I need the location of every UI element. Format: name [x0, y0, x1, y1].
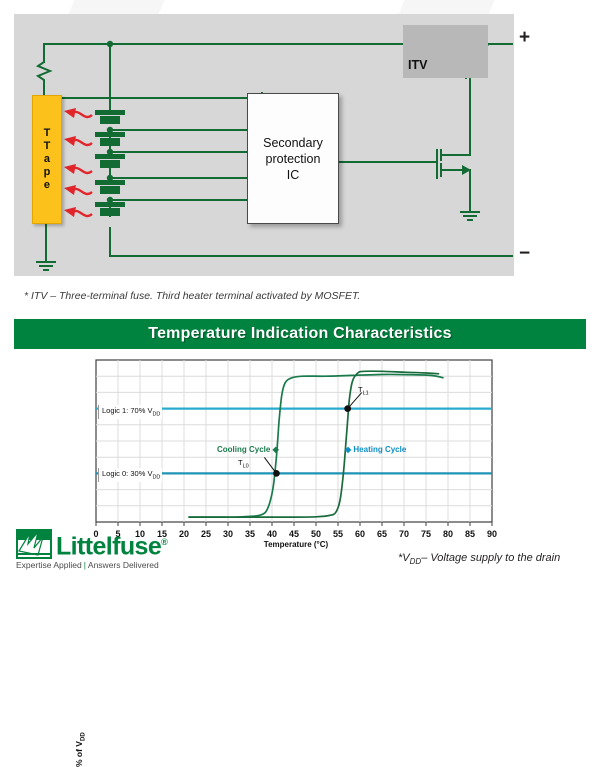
- ttape-component: T T a p e: [32, 95, 62, 224]
- littelfuse-wordmark-text: Littelfuse: [56, 532, 161, 560]
- ttape-letter-3: a: [44, 153, 51, 166]
- temperature-indication-chart: 051015202530354045505560657075808590 % o…: [0, 352, 600, 547]
- heat-arrow-heads: [64, 108, 76, 217]
- heating-cycle-dot: ◆: [345, 445, 351, 454]
- circuit-caption: * ITV – Three-terminal fuse. Third heate…: [24, 290, 584, 302]
- x-tick-label: 55: [333, 529, 343, 539]
- heat-flow-arrows: [72, 112, 92, 216]
- logic-0-sub: DD: [152, 475, 160, 481]
- heating-cycle-legend: ◆ Heating Cycle: [345, 445, 406, 454]
- tl0-annotation: TL0: [238, 458, 249, 470]
- ttape-letter-1: T: [44, 127, 51, 140]
- ic-label-line-2: protection: [266, 152, 321, 166]
- x-tick-label: 75: [421, 529, 431, 539]
- x-tick-label: 85: [465, 529, 475, 539]
- x-tick-label: 65: [377, 529, 387, 539]
- ic-label-line-3: IC: [287, 168, 300, 182]
- ttape-letter-2: T: [44, 140, 51, 153]
- logic-0-text: Logic 0: 30% V: [102, 469, 152, 478]
- y-axis-label-sub: DD: [81, 732, 87, 741]
- y-axis-label: % of VDD: [74, 707, 87, 767]
- littelfuse-tagline: Expertise Applied|Answers Delivered: [16, 560, 159, 570]
- itv-label: ITV: [408, 58, 427, 72]
- y-axis-label-text: % of V: [74, 741, 84, 767]
- ic-label-line-1: Secondary: [263, 136, 323, 150]
- logic-1-threshold-label: Logic 1: 70% VDD: [98, 405, 162, 419]
- tl1-sub: L1: [363, 391, 369, 397]
- tagline-left: Expertise Applied: [16, 560, 82, 570]
- x-tick-label: 45: [289, 529, 299, 539]
- positive-terminal-label: +: [519, 28, 530, 47]
- x-tick-label: 80: [443, 529, 453, 539]
- littelfuse-logo-block: Littelfuse® Expertise Applied|Answers De…: [16, 527, 236, 579]
- registered-trademark-symbol: ®: [161, 537, 167, 547]
- heating-cycle-text: Heating Cycle: [353, 445, 406, 454]
- littelfuse-logo-mark-icon: [16, 529, 52, 559]
- x-tick-label: 40: [267, 529, 277, 539]
- x-tick-label: 50: [311, 529, 321, 539]
- littelfuse-wordmark: Littelfuse®: [56, 527, 167, 561]
- ttape-letter-5: e: [44, 179, 51, 192]
- x-tick-label: 70: [399, 529, 409, 539]
- logic-0-threshold-label: Logic 0: 30% VDD: [98, 468, 162, 482]
- x-axis-label: Temperature (°C): [264, 540, 328, 549]
- negative-terminal-label: −: [519, 244, 530, 263]
- ttape-letter-4: p: [44, 166, 51, 179]
- vdd-footnote-sub: DD: [410, 557, 422, 566]
- cooling-cycle-text: Cooling Cycle: [217, 445, 270, 454]
- logic-1-text: Logic 1: 70% V: [102, 406, 152, 415]
- vdd-footnote: *VDD– Voltage supply to the drain: [398, 552, 560, 566]
- tl0-sub: L0: [243, 464, 249, 470]
- x-tick-label: 60: [355, 529, 365, 539]
- tagline-right: Answers Delivered: [88, 560, 159, 570]
- secondary-protection-ic-label: Secondary protection IC: [263, 135, 323, 183]
- chart-canvas: 051015202530354045505560657075808590: [0, 352, 600, 547]
- cooling-cycle-dot: ◆: [273, 445, 279, 454]
- vdd-footnote-text: – Voltage supply to the drain: [421, 552, 560, 564]
- ttape-label: T T a p e: [44, 127, 51, 192]
- secondary-protection-ic-block: Secondary protection IC: [247, 93, 339, 224]
- chart-title-banner: Temperature Indication Characteristics: [14, 319, 586, 349]
- tl1-annotation: TL1: [358, 385, 369, 397]
- vdd-footnote-prefix: *V: [398, 552, 410, 564]
- chart-title: Temperature Indication Characteristics: [148, 325, 451, 343]
- x-tick-label: 90: [487, 529, 497, 539]
- x-tick-label: 35: [245, 529, 255, 539]
- logic-1-sub: DD: [152, 412, 160, 418]
- cooling-cycle-legend: Cooling Cycle ◆: [217, 445, 279, 454]
